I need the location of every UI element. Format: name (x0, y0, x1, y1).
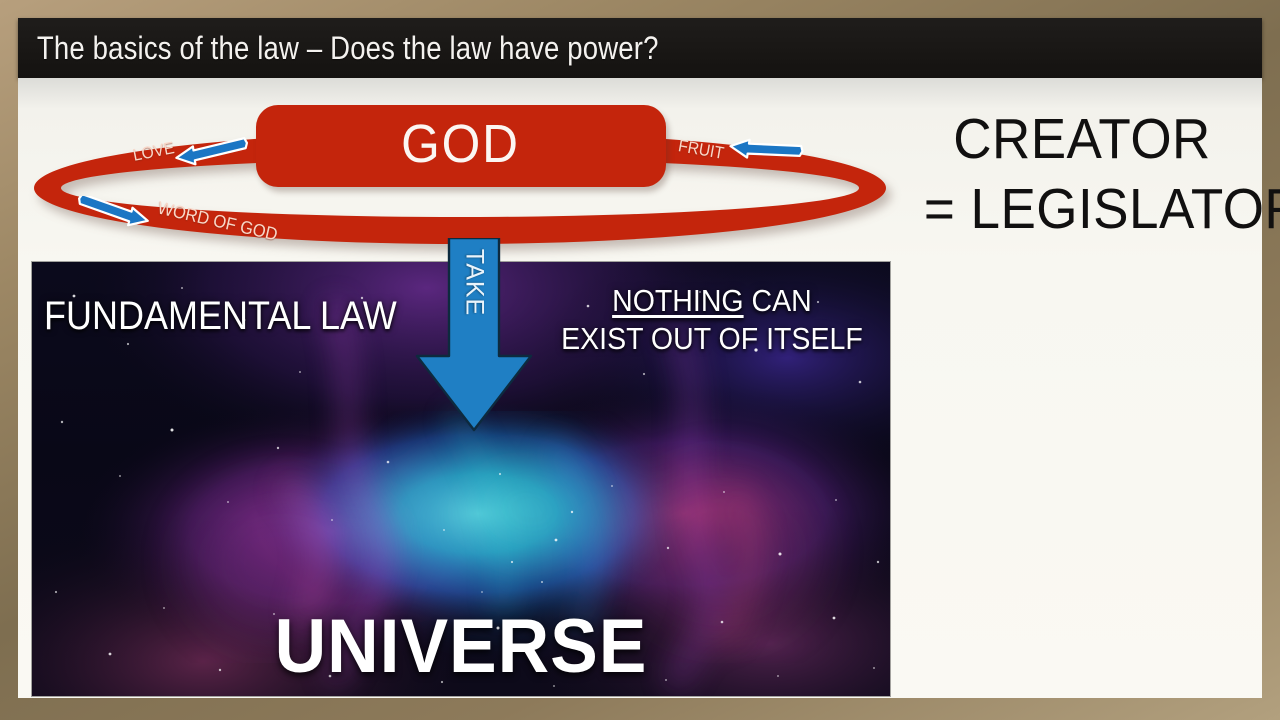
slide: The basics of the law – Does the law hav… (0, 0, 1280, 720)
word-of-god-arrow-icon (68, 196, 164, 236)
love-arrow-icon (168, 136, 254, 170)
can-word: CAN (744, 283, 812, 318)
exist-out-of-itself-line: EXIST OUT OF ITSELF (561, 320, 863, 358)
fruit-arrow-icon (722, 134, 808, 170)
slide-title-bar: The basics of the law – Does the law hav… (18, 18, 1262, 78)
fundamental-law-label: FUNDAMENTAL LAW (44, 294, 397, 339)
page-title: The basics of the law – Does the law hav… (18, 30, 659, 67)
nothing-word: NOTHING (612, 283, 744, 318)
take-label: TAKE (460, 249, 489, 316)
creator-legislator-block: CREATOR = LEGISLATOR (912, 104, 1252, 244)
god-label: GOD (402, 113, 521, 175)
god-box: GOD (256, 105, 666, 187)
legislator-label: = LEGISLATOR (924, 174, 1240, 244)
take-arrow: TAKE (413, 238, 535, 432)
creator-label: CREATOR (924, 104, 1240, 174)
nothing-can-exist-block: NOTHING CAN EXIST OUT OF ITSELF (548, 282, 876, 358)
nothing-can-line: NOTHING CAN (561, 282, 863, 320)
universe-label: UNIVERSE (58, 603, 865, 690)
